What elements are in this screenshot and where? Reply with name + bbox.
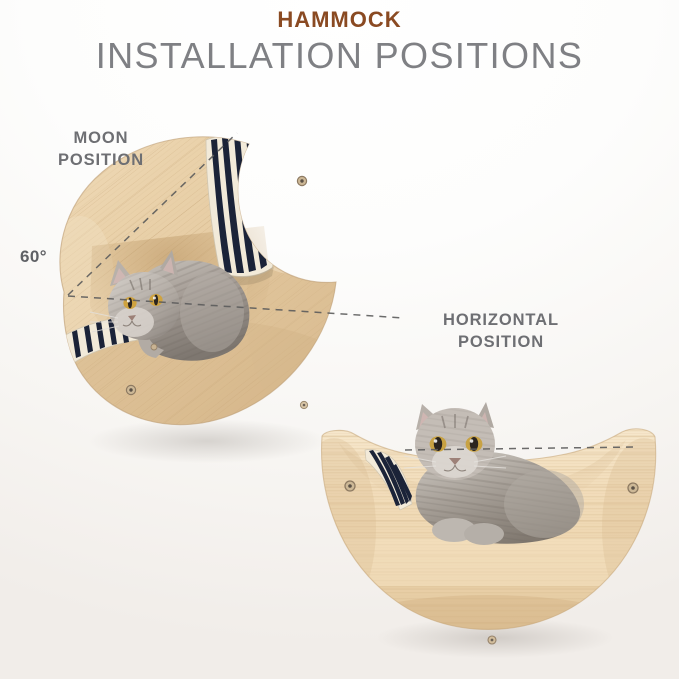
callout-horizontal-line1: HORIZONTAL (418, 310, 584, 332)
callout-horizontal-position: HORIZONTAL POSITION (418, 310, 584, 354)
callout-moon-line2: POSITION (36, 150, 166, 172)
mounting-screw (345, 481, 355, 491)
mounting-screw (297, 176, 306, 185)
mounting-screw (300, 401, 307, 408)
horizontal-position-hammock[interactable] (308, 418, 668, 648)
gray-tabby-cat-horizontal (404, 402, 584, 545)
page-title: HAMMOCK INSTALLATION POSITIONS (0, 8, 679, 74)
mounting-screw (628, 483, 638, 493)
infographic-canvas: HAMMOCK INSTALLATION POSITIONS (0, 0, 679, 679)
title-installation-positions: INSTALLATION POSITIONS (0, 38, 679, 74)
mounting-screw (151, 344, 157, 350)
title-hammock: HAMMOCK (0, 8, 679, 31)
mounting-screw (126, 385, 135, 394)
callout-moon-position: MOON POSITION (36, 128, 166, 172)
angle-label-60-degrees: 60° (20, 247, 47, 267)
callout-horizontal-line2: POSITION (418, 332, 584, 354)
mounting-screw (488, 636, 496, 644)
callout-moon-line1: MOON (36, 128, 166, 150)
